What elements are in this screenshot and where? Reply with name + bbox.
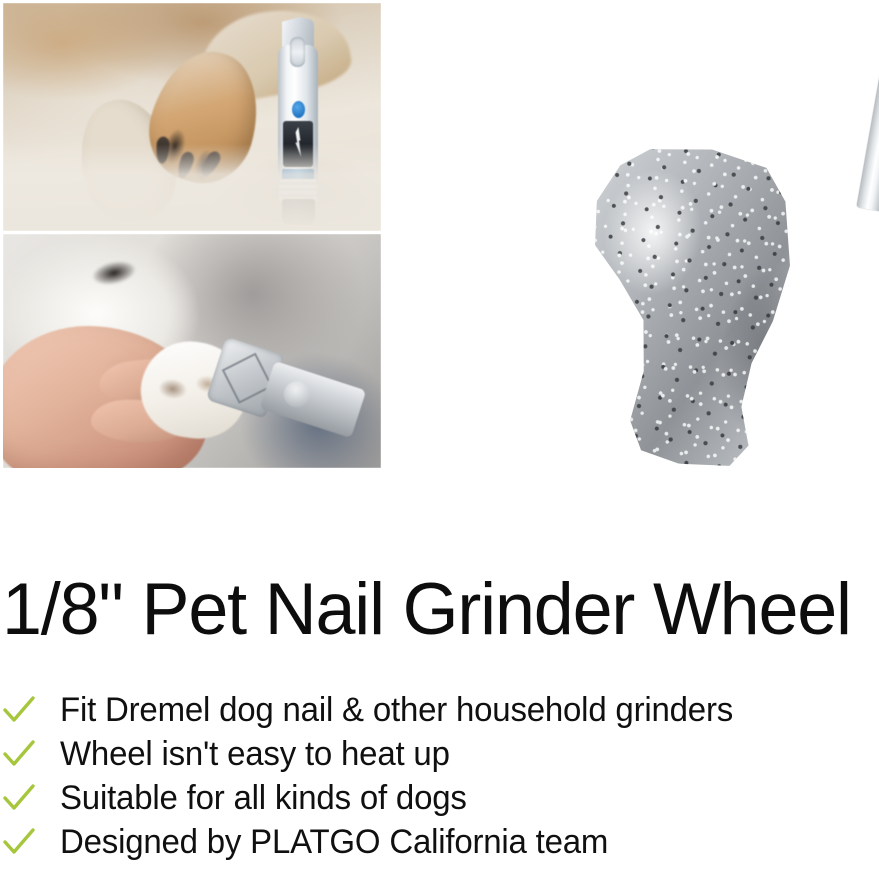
tool-brand-label <box>283 121 313 167</box>
tool-blue-band <box>282 169 314 180</box>
tool-base-cap <box>282 199 315 225</box>
feature-list: Fit Dremel dog nail & other household gr… <box>0 688 879 864</box>
tool-window <box>290 37 305 67</box>
product-photo-grinder-bit <box>420 0 879 480</box>
check-icon <box>2 825 36 859</box>
grey-grinder-tool <box>201 331 370 459</box>
dog-nail <box>198 149 223 179</box>
check-icon <box>2 781 36 815</box>
nail-grinder-tool <box>275 17 321 222</box>
dog-nail <box>175 150 196 180</box>
grooming-photo <box>3 234 381 468</box>
collage-photo-dog-paws <box>3 3 381 231</box>
collage-photo-grooming <box>3 234 381 468</box>
feature-label: Designed by PLATGO California team <box>60 825 608 859</box>
check-icon <box>2 737 36 771</box>
feature-item: Suitable for all kinds of dogs <box>0 776 879 820</box>
grinder-barrel <box>260 361 367 438</box>
feature-item: Fit Dremel dog nail & other household gr… <box>0 688 879 732</box>
feature-label: Fit Dremel dog nail & other household gr… <box>60 693 733 727</box>
feature-label: Suitable for all kinds of dogs <box>60 781 467 815</box>
tool-power-button <box>292 101 305 118</box>
feature-label: Wheel isn't easy to heat up <box>60 737 450 771</box>
dog-nail <box>155 136 170 164</box>
product-listing-image: 1/8" Pet Nail Grinder Wheel Fit Dremel d… <box>0 0 879 871</box>
grinder-bit-shank <box>856 15 879 213</box>
photo-collage <box>3 3 381 468</box>
diamond-grit-head <box>534 134 845 478</box>
dog-paws-photo <box>3 3 381 231</box>
feature-item: Wheel isn't easy to heat up <box>0 732 879 776</box>
tool-grip <box>279 179 317 203</box>
page-title: 1/8" Pet Nail Grinder Wheel <box>2 573 866 646</box>
feature-item: Designed by PLATGO California team <box>0 820 879 864</box>
check-icon <box>2 693 36 727</box>
